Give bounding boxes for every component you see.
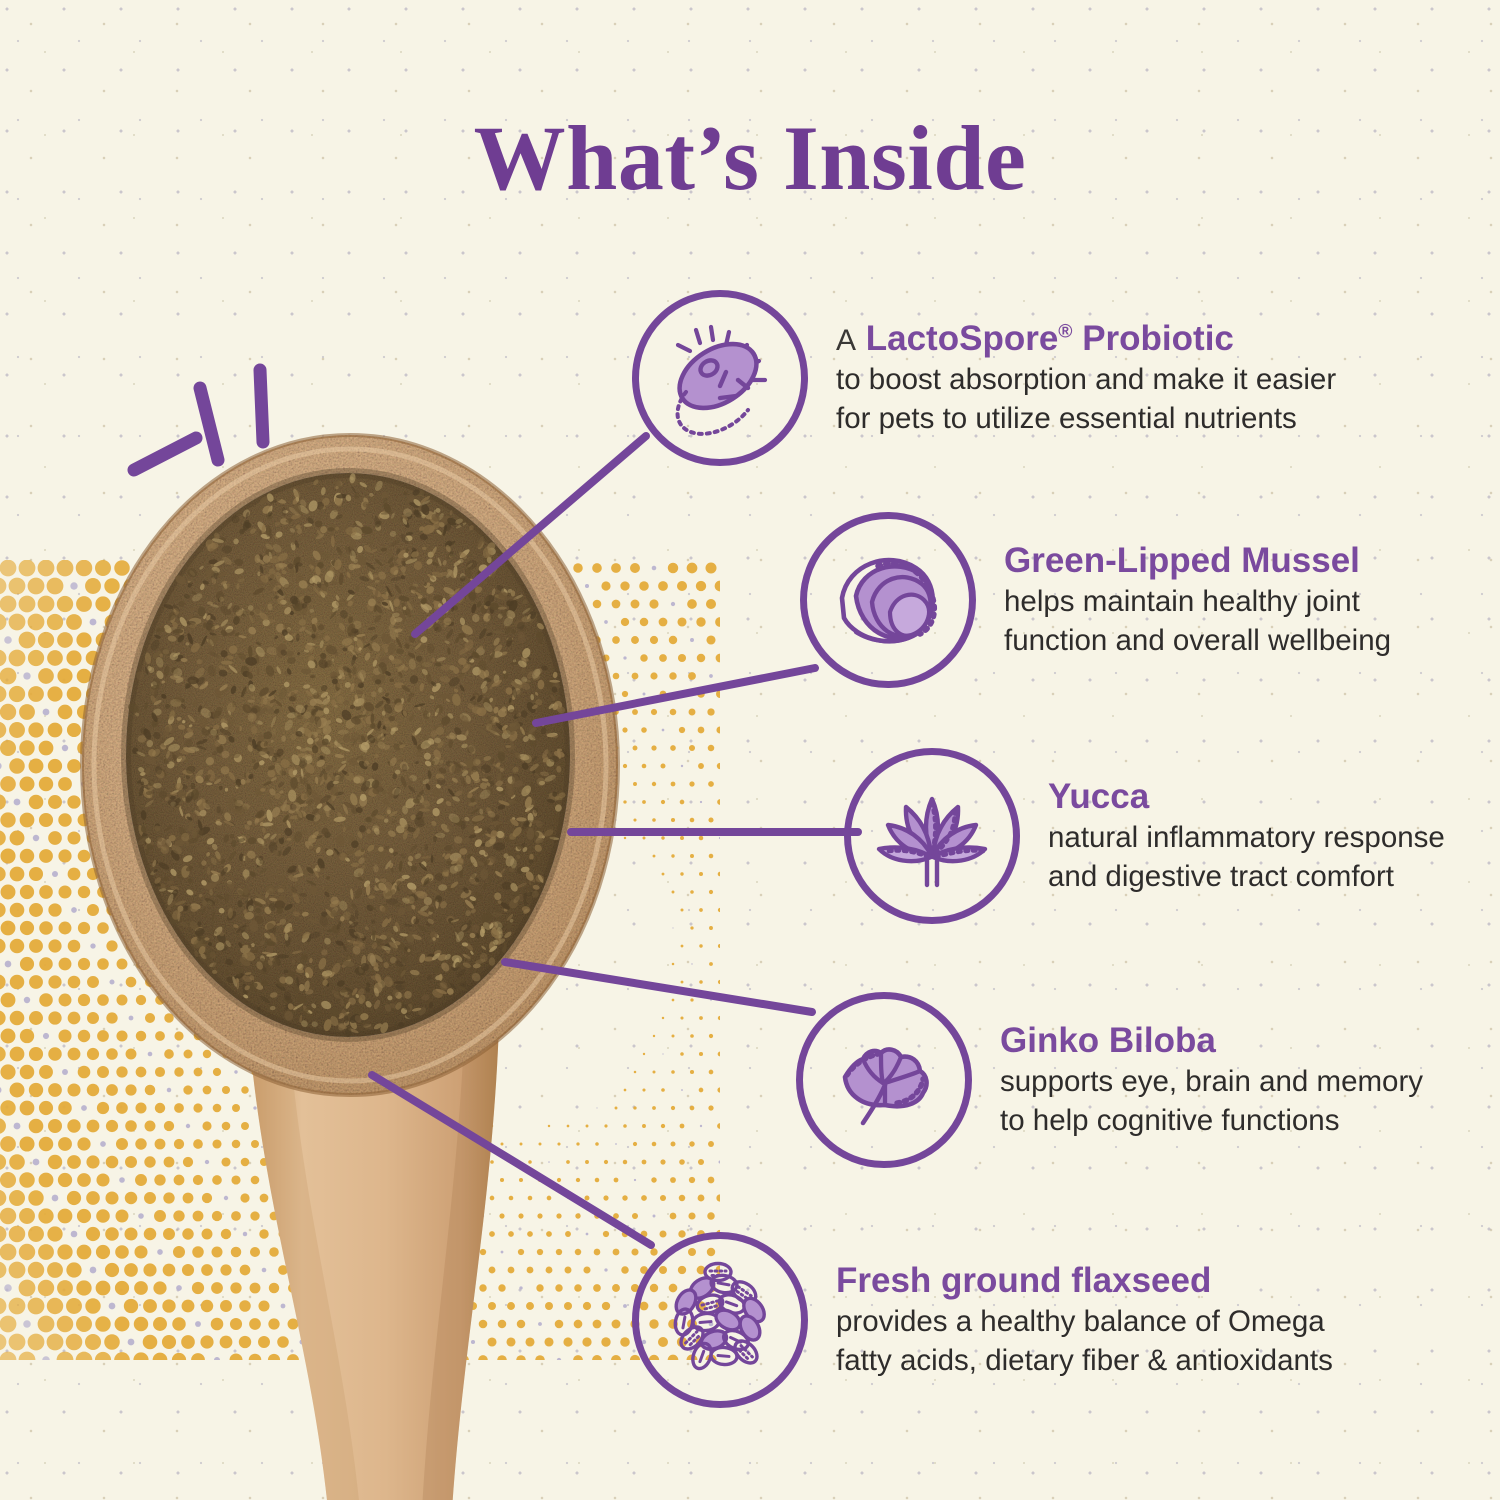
callout-body-line-1-yucca: natural inflammatory response [1048, 820, 1445, 856]
callout-text-lactospore: A LactoSpore® Probiotic to boost absorpt… [836, 319, 1336, 436]
badge-ginko [796, 992, 972, 1168]
page-title: What’s Inside [0, 112, 1500, 204]
callout-title-main-lactospore: LactoSpore [866, 319, 1059, 358]
green-lipped-mussel-shell-icon [826, 538, 950, 662]
flaxseed-cluster-icon [658, 1258, 782, 1382]
callout-body-line-1-lactospore: to boost absorption and make it easier [836, 362, 1336, 398]
ginkgo-leaf-icon [823, 1019, 945, 1141]
callout-body-line-2-lactospore: for pets to utilize essential nutrients [836, 401, 1336, 437]
callout-body-line-2-mussel: function and overall wellbeing [1004, 623, 1391, 659]
callout-lead-lactospore: A [836, 324, 856, 357]
callout-title-flaxseed: Fresh ground flaxseed [836, 1261, 1333, 1300]
wooden-spoon-image [60, 430, 720, 1500]
callout-title-lactospore: A LactoSpore® Probiotic [836, 319, 1336, 358]
callout-title-ginko: Ginko Biloba [1000, 1021, 1423, 1060]
badge-mussel [800, 512, 976, 688]
callout-yucca: Yucca natural inflammatory response and … [844, 748, 1445, 924]
callout-body-line-2-yucca: and digestive tract comfort [1048, 859, 1445, 895]
callout-mussel: Green-Lipped Mussel helps maintain healt… [800, 512, 1391, 688]
callout-text-ginko: Ginko Biloba supports eye, brain and mem… [1000, 1021, 1423, 1138]
callout-flaxseed: Fresh ground flaxseed provides a healthy… [632, 1232, 1333, 1408]
callout-lactospore: A LactoSpore® Probiotic to boost absorpt… [632, 290, 1336, 466]
badge-yucca [844, 748, 1020, 924]
callout-title-yucca: Yucca [1048, 777, 1445, 816]
callout-body-line-1-flaxseed: provides a healthy balance of Omega [836, 1304, 1333, 1340]
bacteria-probiotic-icon [660, 318, 780, 438]
infographic-canvas: What’s Inside [0, 0, 1500, 1500]
callout-text-flaxseed: Fresh ground flaxseed provides a healthy… [836, 1261, 1333, 1378]
purple-sparkle-marks [120, 360, 320, 510]
callout-text-mussel: Green-Lipped Mussel helps maintain healt… [1004, 541, 1391, 658]
callout-ginko: Ginko Biloba supports eye, brain and mem… [796, 992, 1423, 1168]
registered-mark: ® [1058, 322, 1072, 343]
callout-title-tail-lactospore: Probiotic [1072, 319, 1233, 358]
badge-flaxseed [632, 1232, 808, 1408]
callout-body-line-2-ginko: to help cognitive functions [1000, 1103, 1423, 1139]
callout-body-line-1-mussel: helps maintain healthy joint [1004, 584, 1391, 620]
callout-title-mussel: Green-Lipped Mussel [1004, 541, 1391, 580]
badge-bacteria [632, 290, 808, 466]
callout-body-line-1-ginko: supports eye, brain and memory [1000, 1064, 1423, 1100]
callout-body-line-2-flaxseed: fatty acids, dietary fiber & antioxidant… [836, 1343, 1333, 1379]
yucca-plant-icon [871, 775, 993, 897]
callout-text-yucca: Yucca natural inflammatory response and … [1048, 777, 1445, 894]
